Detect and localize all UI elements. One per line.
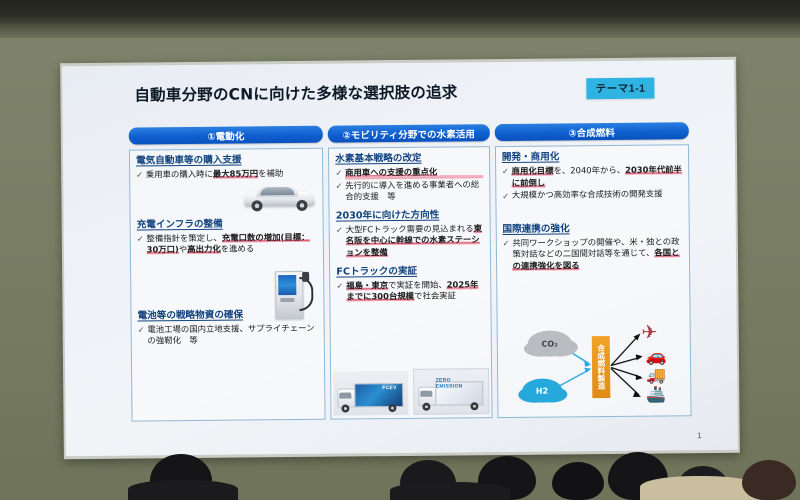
co2-cloud-icon: CO₂ bbox=[527, 330, 571, 356]
car-icon: 🚗 bbox=[646, 347, 667, 364]
car-wheel-rear bbox=[297, 200, 308, 211]
check-icon: ✓ bbox=[335, 180, 342, 203]
column-header-1: ①電動化 bbox=[129, 126, 323, 145]
column-body-3: 開発・商用化 ✓ 商用化目標を、2040年から、2030年代前半に前倒し ✓ 大… bbox=[495, 144, 692, 418]
truck-wheel-rear bbox=[388, 404, 396, 412]
block-2030-direction: 2030年に向けた方向性 ✓ 大型FCトラック需要の見込まれる東名阪を中心に幹線… bbox=[336, 209, 484, 259]
list-item: ✓ 電池工場の国内立地支援、サプライチェーンの強靭化 等 bbox=[138, 323, 318, 348]
check-icon: ✓ bbox=[136, 169, 143, 181]
bullet-text: 大型FCトラック需要の見込まれる東名阪を中心に幹線での水素ステーションを整備 bbox=[346, 223, 484, 259]
highlight: 高出力化 bbox=[187, 244, 221, 254]
audience-head bbox=[608, 452, 668, 500]
truck-wheel-front bbox=[342, 404, 350, 412]
page-number: 1 bbox=[697, 431, 702, 440]
highlight: 福島・東京 bbox=[346, 280, 388, 290]
list-item: ✓ 大型FCトラック需要の見込まれる東名阪を中心に幹線での水素ステーションを整備 bbox=[336, 223, 484, 259]
audience-head bbox=[150, 454, 212, 500]
list-item: ✓ 乗用車の購入時に最大85万円を補助 bbox=[136, 168, 316, 181]
list-item: ✓ 大規模かつ高効率な合成技術の開発支援 bbox=[502, 188, 682, 201]
truck-logo-text: FCEV bbox=[382, 385, 397, 391]
list-item: ✓ 福島・東京で実証を開始、2025年までに300台規模で社会実証 bbox=[336, 279, 484, 304]
columns-container: ①電動化 電気自動車等の購入支援 ✓ 乗用車の購入時に最大85万円を補助 bbox=[129, 122, 692, 421]
check-icon: ✓ bbox=[336, 280, 343, 303]
column-body-2: 水素基本戦略の改定 ✓ 商用車への支援の重点化 ✓ 先行的に導入を進める事業者へ… bbox=[328, 146, 492, 420]
bullet-text: 商用化目標を、2040年から、2030年代前半に前倒し bbox=[512, 164, 683, 189]
highlight: 商用化目標 bbox=[512, 166, 554, 176]
airplane-icon: ✈ bbox=[641, 324, 657, 343]
block-charging-infrastructure: 充電インフラの整備 ✓ 整備指針を策定し、充電口数の増加(目標：30万口)や高出… bbox=[137, 217, 318, 256]
block-international-cooperation: 国際連携の強化 ✓ 共同ワークショップの開催や、米・独との政策対話などの二国間対… bbox=[502, 222, 683, 272]
check-icon: ✓ bbox=[138, 324, 145, 347]
status-badge: テーマ1-1 bbox=[587, 78, 655, 100]
ev-car-photo bbox=[243, 183, 317, 214]
fc-small-truck-photo: FCEV bbox=[333, 371, 408, 416]
charger-connector bbox=[302, 272, 309, 282]
block-heading: 国際連携の強化 bbox=[502, 222, 682, 236]
ship-icon: 🚢 bbox=[646, 387, 666, 403]
block-hydrogen-strategy-revision: 水素基本戦略の改定 ✓ 商用車への支援の重点化 ✓ 先行的に導入を進める事業者へ… bbox=[335, 152, 483, 203]
charger-slot bbox=[281, 298, 295, 302]
car-window-shape bbox=[261, 187, 295, 195]
bullet-text: 整備指針を策定し、充電口数の増加(目標：30万口)や高出力化を進める bbox=[146, 231, 317, 256]
block-development-commercialization: 開発・商用化 ✓ 商用化目標を、2040年から、2030年代前半に前倒し ✓ 大… bbox=[502, 150, 683, 201]
slide-title-row: 自動車分野のCNに向けた多様な選択肢の追求 テーマ1-1 bbox=[134, 78, 718, 110]
truck-icon: 🚚 bbox=[646, 368, 666, 384]
bullet-text: 電池工場の国内立地支援、サプライチェーンの強靭化 等 bbox=[147, 323, 318, 348]
block-heading: FCトラックの実証 bbox=[336, 265, 484, 278]
bullet-text: 共同ワークショップの開催や、米・独との政策対話などの二国間対話等を通じて、各国と… bbox=[512, 236, 683, 272]
block-heading: 電気自動車等の購入支援 bbox=[136, 154, 316, 168]
truck-window bbox=[420, 391, 432, 397]
truck-photos: FCEV ZERO EMIS bbox=[333, 368, 489, 415]
bullet-text: 福島・東京で実証を開始、2025年までに300台規模で社会実証 bbox=[346, 279, 484, 304]
presentation-slide: 自動車分野のCNに向けた多様な選択肢の追求 テーマ1-1 ①電動化 電気自動車等… bbox=[62, 60, 738, 456]
block-heading: 充電インフラの整備 bbox=[137, 217, 317, 231]
car-wheel-front bbox=[252, 200, 263, 211]
list-item: ✓ 商用化目標を、2040年から、2030年代前半に前倒し bbox=[502, 164, 682, 189]
projection-screen: 自動車分野のCNに向けた多様な選択肢の追求 テーマ1-1 ①電動化 電気自動車等… bbox=[60, 57, 740, 459]
check-icon: ✓ bbox=[336, 224, 343, 259]
fc-large-truck-photo: ZERO EMISSION bbox=[413, 368, 490, 415]
block-fc-truck-demonstration: FCトラックの実証 ✓ 福島・東京で実証を開始、2025年までに300台規模で社… bbox=[336, 265, 484, 304]
synfuel-production-box: 合成燃料製造 bbox=[592, 336, 611, 398]
h2-cloud-icon: H2 bbox=[522, 378, 562, 402]
ceiling-gradient-band bbox=[0, 24, 800, 38]
ev-charging-station-photo bbox=[271, 267, 315, 319]
column-hydrogen-mobility: ②モビリティ分野での水素活用 水素基本戦略の改定 ✓ 商用車への支援の重点化 bbox=[328, 124, 492, 420]
bullet-text: 大規模かつ高効率な合成技術の開発支援 bbox=[512, 188, 683, 201]
audience-shoulder bbox=[640, 476, 760, 500]
check-icon: ✓ bbox=[502, 190, 509, 202]
lecture-room-background: 自動車分野のCNに向けた多様な選択肢の追求 テーマ1-1 ①電動化 電気自動車等… bbox=[0, 0, 800, 500]
column-electrification: ①電動化 電気自動車等の購入支援 ✓ 乗用車の購入時に最大85万円を補助 bbox=[129, 126, 326, 422]
synthetic-fuel-diagram: CO₂ H2 合成燃料製造 ✈ 🚗 🚚 🚢 bbox=[505, 319, 684, 413]
bullet-text: 商用車への支援の重点化 bbox=[345, 166, 483, 179]
list-item: ✓ 商用車への支援の重点化 bbox=[335, 166, 483, 179]
audience-shoulder bbox=[390, 482, 510, 500]
bullet-text: 乗用車の購入時に最大85万円を補助 bbox=[146, 168, 317, 181]
screen-frame: 自動車分野のCNに向けた多様な選択肢の追求 テーマ1-1 ①電動化 電気自動車等… bbox=[60, 57, 740, 459]
block-ev-purchase-support: 電気自動車等の購入支援 ✓ 乗用車の購入時に最大85万円を補助 bbox=[136, 154, 316, 181]
truck-wheel-rear bbox=[470, 402, 478, 410]
column-body-1: 電気自動車等の購入支援 ✓ 乗用車の購入時に最大85万円を補助 bbox=[129, 148, 326, 422]
column-synthetic-fuel: ③合成燃料 開発・商用化 ✓ 商用化目標を、2040年から、2030年代前半に前… bbox=[494, 122, 691, 418]
audience-head bbox=[552, 462, 604, 500]
charger-display bbox=[278, 275, 296, 295]
list-item: ✓ 共同ワークショップの開催や、米・独との政策対話などの二国間対話等を通じて、各… bbox=[503, 236, 684, 273]
block-heading: 2030年に向けた方向性 bbox=[336, 209, 484, 222]
column-header-3: ③合成燃料 bbox=[494, 122, 688, 141]
check-icon: ✓ bbox=[137, 233, 144, 256]
check-icon: ✓ bbox=[502, 166, 509, 189]
audience-shoulder bbox=[128, 480, 238, 500]
audience-head bbox=[678, 466, 728, 500]
bullet-text: 先行的に導入を進める事業者への総合的支援 等 bbox=[345, 179, 483, 204]
block-heading: 開発・商用化 bbox=[502, 150, 682, 164]
list-item: ✓ 先行的に導入を進める事業者への総合的支援 等 bbox=[335, 179, 483, 204]
column-header-2: ②モビリティ分野での水素活用 bbox=[328, 124, 490, 143]
audience-head bbox=[478, 456, 536, 500]
audience-head bbox=[742, 460, 796, 500]
audience-head bbox=[400, 460, 456, 500]
charger-cable bbox=[299, 277, 313, 311]
truck-wheel-front bbox=[422, 403, 430, 411]
truck-cargo-box: FCEV bbox=[354, 383, 402, 407]
screen-surface: 自動車分野のCNに向けた多様な選択肢の追求 テーマ1-1 ①電動化 電気自動車等… bbox=[62, 60, 738, 456]
check-icon: ✓ bbox=[335, 168, 342, 180]
list-item: ✓ 整備指針を策定し、充電口数の増加(目標：30万口)や高出力化を進める bbox=[137, 231, 317, 256]
truck-window bbox=[340, 392, 352, 398]
highlight: 最大85万円 bbox=[213, 168, 258, 178]
truck-logo-text: ZERO EMISSION bbox=[436, 377, 477, 389]
check-icon: ✓ bbox=[503, 238, 510, 273]
block-heading: 水素基本戦略の改定 bbox=[335, 152, 483, 165]
ceiling-dark-band bbox=[0, 0, 800, 26]
